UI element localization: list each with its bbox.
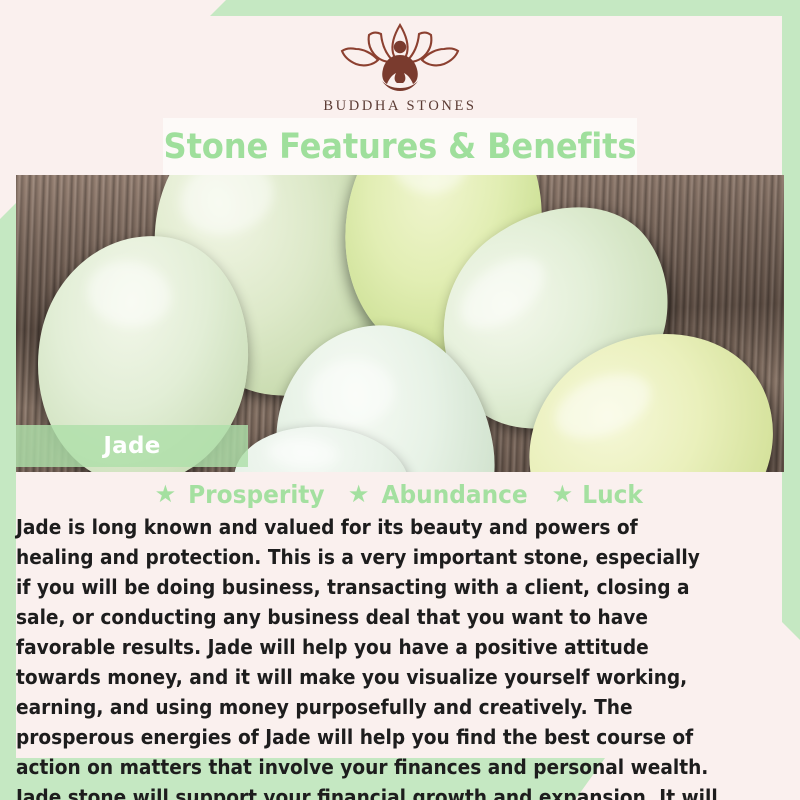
benefit-label: Abundance (382, 480, 528, 509)
stone-name-chip: Jade (16, 425, 248, 467)
stone-name-label: Jade (103, 433, 160, 459)
decor-left-green-bar (0, 203, 16, 783)
benefits-row: ★ Prosperity ★ Abundance ★ Luck (16, 480, 784, 509)
benefit-item-abundance: ★ Abundance (348, 480, 534, 509)
benefit-label: Luck (582, 480, 643, 509)
star-icon: ★ (155, 483, 177, 507)
title-band: Stone Features & Benefits (163, 118, 637, 175)
stone-benefits-poster: BUDDHA STONES Stone Features & Benefits … (0, 0, 800, 800)
page-title: Stone Features & Benefits (164, 127, 637, 167)
lotus-meditation-icon (325, 18, 475, 96)
star-icon: ★ (348, 483, 370, 507)
decor-top-green-bar (210, 0, 800, 16)
brand-logo: BUDDHA STONES (0, 18, 800, 115)
benefit-item-luck: ★ Luck (552, 480, 646, 509)
brand-wordmark: BUDDHA STONES (0, 98, 800, 115)
star-icon: ★ (552, 483, 574, 507)
description-paragraph: Jade is long known and valued for its be… (16, 512, 721, 800)
benefit-label: Prosperity (188, 480, 324, 509)
benefit-item-prosperity: ★ Prosperity (155, 480, 330, 509)
